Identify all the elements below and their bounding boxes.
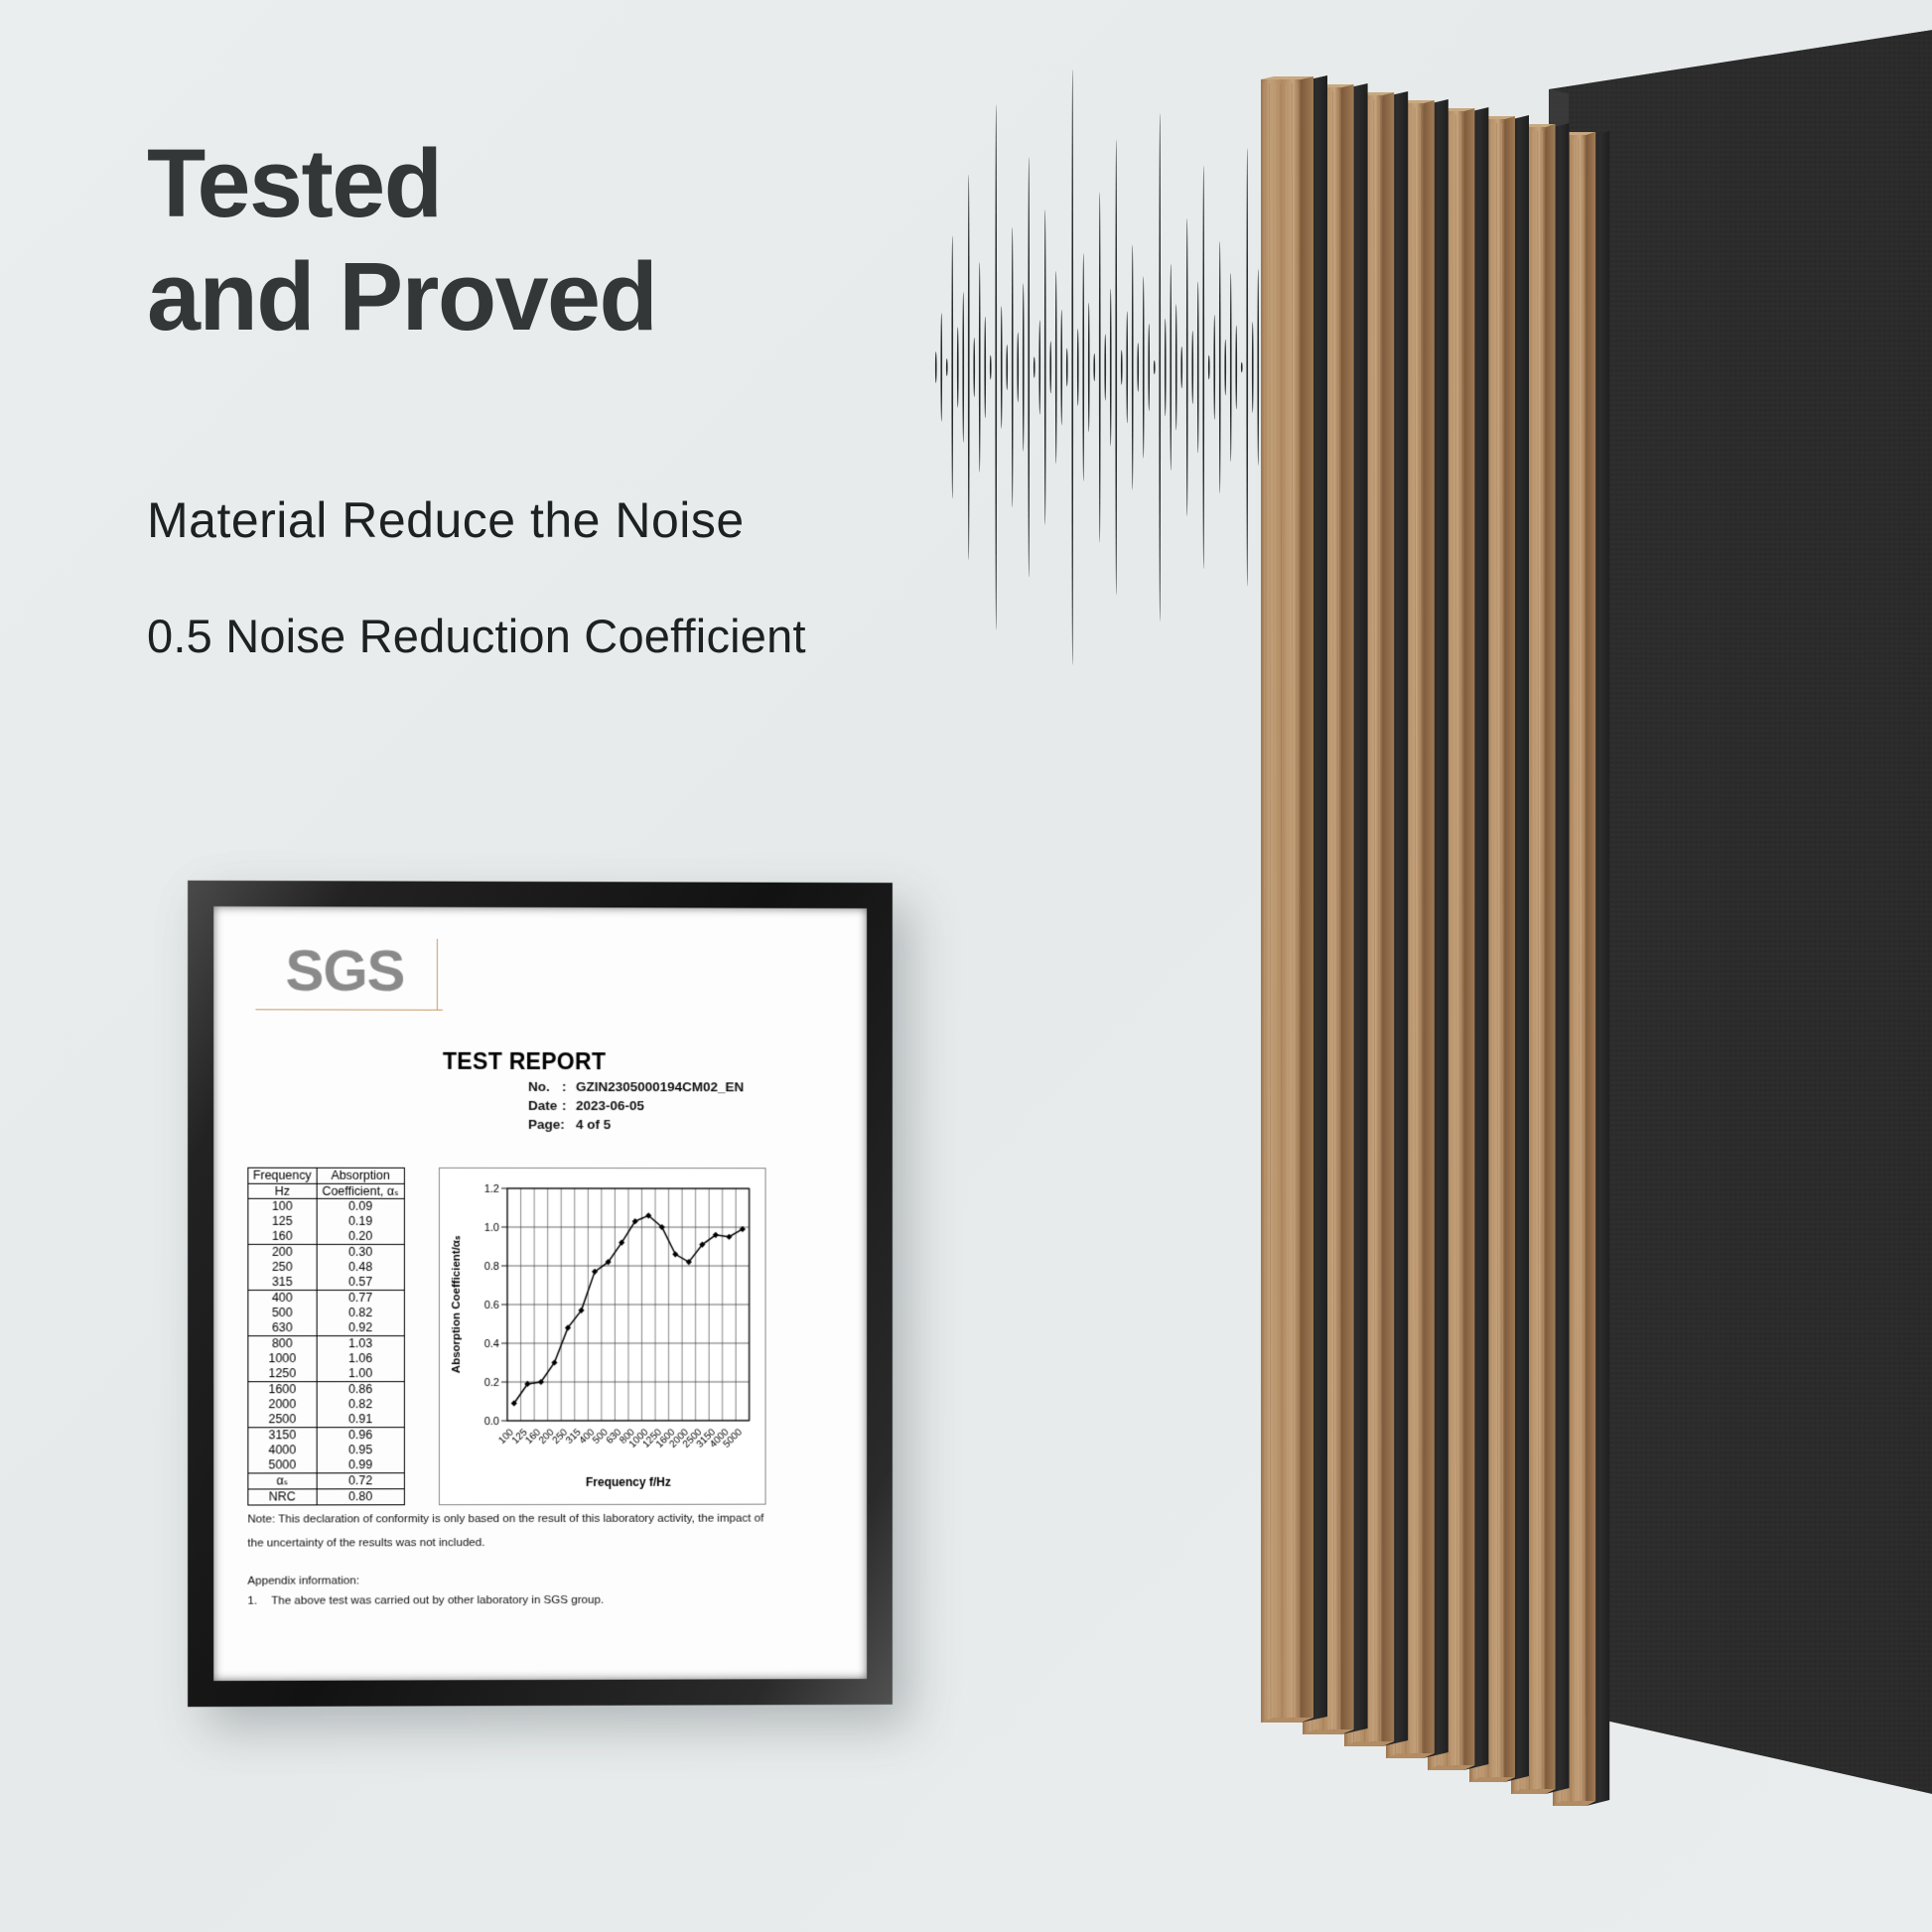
table-row: 10001.06 <box>248 1351 405 1366</box>
table-row: 1000.09 <box>248 1199 405 1215</box>
cell-coefficient: 0.95 <box>317 1443 405 1457</box>
absorption-chart: 0.00.20.40.60.81.01.21001251602002503154… <box>439 1168 766 1505</box>
svg-text:0.4: 0.4 <box>484 1338 499 1350</box>
report-title: TEST REPORT <box>443 1048 833 1076</box>
report-header: TEST REPORT No.:GZIN2305000194CM02_ENDat… <box>443 1048 833 1133</box>
table-row: αₛ0.72 <box>248 1473 405 1489</box>
cell-frequency: 200 <box>248 1245 317 1261</box>
cell-coefficient: 1.00 <box>317 1366 405 1382</box>
table-row: 50000.99 <box>248 1457 405 1473</box>
cell-coefficient: 0.20 <box>317 1229 405 1245</box>
appendix-number: 1. <box>247 1593 257 1606</box>
cell-frequency: 125 <box>248 1214 317 1229</box>
sgs-logo-hline <box>255 1009 443 1010</box>
table-row: 25000.91 <box>248 1412 405 1428</box>
absorption-table-body: 1000.091250.191600.202000.302500.483150.… <box>248 1199 405 1505</box>
svg-text:0.6: 0.6 <box>484 1300 499 1311</box>
cell-coefficient: 0.82 <box>317 1306 405 1320</box>
report-meta-row: Page:4 of 5 <box>528 1117 833 1132</box>
cell-frequency: 2500 <box>248 1412 317 1428</box>
cell-frequency: 250 <box>248 1260 317 1275</box>
picture-frame: SGS TEST REPORT No.:GZIN2305000194CM02_E… <box>188 881 893 1707</box>
cell-coefficient: 0.19 <box>317 1214 405 1229</box>
table-row: 16000.86 <box>248 1382 405 1398</box>
cell-frequency: NRC <box>248 1489 317 1505</box>
cell-coefficient: 0.57 <box>317 1275 405 1291</box>
cell-frequency: 2000 <box>248 1397 317 1412</box>
appendix-title: Appendix information: <box>247 1573 833 1587</box>
table-row: 4000.77 <box>248 1291 405 1307</box>
svg-text:Frequency f/Hz: Frequency f/Hz <box>586 1475 671 1489</box>
cell-frequency: 5000 <box>248 1457 317 1473</box>
sgs-logo: SGS <box>286 942 455 1015</box>
sgs-logo-vline <box>437 939 438 1011</box>
subtitle-text: Material Reduce the Noise <box>147 491 745 549</box>
sgs-logo-text: SGS <box>286 942 455 1001</box>
cell-frequency: 1250 <box>248 1366 317 1382</box>
appendix-item: 1. The above test was carried out by oth… <box>247 1592 833 1606</box>
cell-coefficient: 0.96 <box>317 1428 405 1444</box>
cell-coefficient: 1.06 <box>317 1351 405 1366</box>
cell-frequency: αₛ <box>248 1473 317 1489</box>
cell-frequency: 160 <box>248 1229 317 1245</box>
table-row: 2500.48 <box>248 1260 405 1275</box>
cell-frequency: 4000 <box>248 1443 317 1457</box>
headline-line-2: and Proved <box>147 240 921 353</box>
meta-colon: : <box>562 1098 576 1113</box>
table-row: 12501.00 <box>248 1366 405 1382</box>
report-meta-list: No.:GZIN2305000194CM02_ENDate:2023-06-05… <box>443 1079 833 1133</box>
cell-frequency: 500 <box>248 1306 317 1320</box>
report-meta-row: No.:GZIN2305000194CM02_EN <box>528 1079 833 1094</box>
absorption-table-head: Frequency Absorption Hz Coefficient, αₛ <box>248 1168 405 1198</box>
cell-coefficient: 1.03 <box>317 1336 405 1352</box>
col-frequency-unit: Hz <box>248 1183 317 1199</box>
results-section: Frequency Absorption Hz Coefficient, αₛ … <box>247 1168 833 1506</box>
col-frequency-title: Frequency <box>248 1168 317 1183</box>
table-row: 8001.03 <box>248 1336 405 1352</box>
table-row: 6300.92 <box>248 1320 405 1336</box>
absorption-table: Frequency Absorption Hz Coefficient, αₛ … <box>247 1168 405 1506</box>
cell-frequency: 1000 <box>248 1351 317 1366</box>
meta-key: Page: <box>528 1117 562 1132</box>
table-row: 31500.96 <box>248 1428 405 1444</box>
table-row: 2000.30 <box>248 1245 405 1261</box>
meta-value: 4 of 5 <box>576 1117 611 1132</box>
poster-canvas: Tested and Proved Material Reduce the No… <box>0 0 1932 1932</box>
svg-text:Absorption Coefficient/αₛ: Absorption Coefficient/αₛ <box>451 1235 463 1373</box>
table-row: 20000.82 <box>248 1397 405 1412</box>
note-line-2: the uncertainty of the results was not i… <box>247 1533 833 1554</box>
meta-colon <box>562 1117 576 1132</box>
cell-frequency: 315 <box>248 1275 317 1291</box>
cell-coefficient: 0.99 <box>317 1457 405 1473</box>
cell-coefficient: 0.91 <box>317 1412 405 1428</box>
cell-coefficient: 0.92 <box>317 1320 405 1336</box>
table-row: 1600.20 <box>248 1229 405 1245</box>
incoming-sound-wave-icon <box>933 60 1261 675</box>
svg-text:1.2: 1.2 <box>484 1183 499 1195</box>
svg-text:0.8: 0.8 <box>484 1261 499 1273</box>
meta-value: 2023-06-05 <box>576 1098 644 1113</box>
cell-coefficient: 0.09 <box>317 1199 405 1215</box>
cell-frequency: 400 <box>248 1291 317 1307</box>
table-row: NRC0.80 <box>248 1489 405 1505</box>
nrc-text: 0.5 Noise Reduction Coefficient <box>147 609 806 663</box>
acoustic-slat-panel <box>1251 20 1932 1911</box>
svg-text:0.0: 0.0 <box>484 1416 499 1428</box>
svg-text:0.2: 0.2 <box>484 1377 499 1389</box>
cell-frequency: 100 <box>248 1199 317 1215</box>
table-row: 3150.57 <box>248 1275 405 1291</box>
headline-block: Tested and Proved <box>147 127 921 354</box>
cell-coefficient: 0.77 <box>317 1291 405 1307</box>
table-row: 5000.82 <box>248 1306 405 1320</box>
cell-coefficient: 0.80 <box>317 1489 405 1505</box>
cell-frequency: 3150 <box>248 1428 317 1444</box>
wood-slat-group <box>1261 75 1609 1806</box>
certificate-page: SGS TEST REPORT No.:GZIN2305000194CM02_E… <box>213 906 867 1681</box>
cell-coefficient: 0.82 <box>317 1397 405 1412</box>
table-row: 40000.95 <box>248 1443 405 1457</box>
table-header-row-1: Frequency Absorption <box>248 1168 405 1183</box>
cell-coefficient: 0.86 <box>317 1382 405 1398</box>
report-meta-row: Date:2023-06-05 <box>528 1098 833 1113</box>
cell-coefficient: 0.30 <box>317 1245 405 1261</box>
svg-text:1.0: 1.0 <box>484 1222 499 1234</box>
headline-line-1: Tested <box>147 127 921 240</box>
table-row: 1250.19 <box>248 1214 405 1229</box>
meta-value: GZIN2305000194CM02_EN <box>576 1079 744 1094</box>
cell-frequency: 800 <box>248 1336 317 1352</box>
cell-frequency: 1600 <box>248 1382 317 1398</box>
cell-coefficient: 0.72 <box>317 1473 405 1489</box>
cell-coefficient: 0.48 <box>317 1260 405 1275</box>
meta-key: No. <box>528 1079 562 1094</box>
cell-frequency: 630 <box>248 1320 317 1336</box>
table-header-row-2: Hz Coefficient, αₛ <box>248 1183 405 1199</box>
meta-colon: : <box>562 1079 576 1094</box>
col-coefficient-symbol: Coefficient, αₛ <box>317 1183 405 1199</box>
col-coefficient-title: Absorption <box>317 1168 405 1183</box>
meta-key: Date <box>528 1098 562 1113</box>
appendix-text: The above test was carried out by other … <box>271 1592 604 1606</box>
note-line-1: Note: This declaration of conformity is … <box>247 1508 833 1529</box>
